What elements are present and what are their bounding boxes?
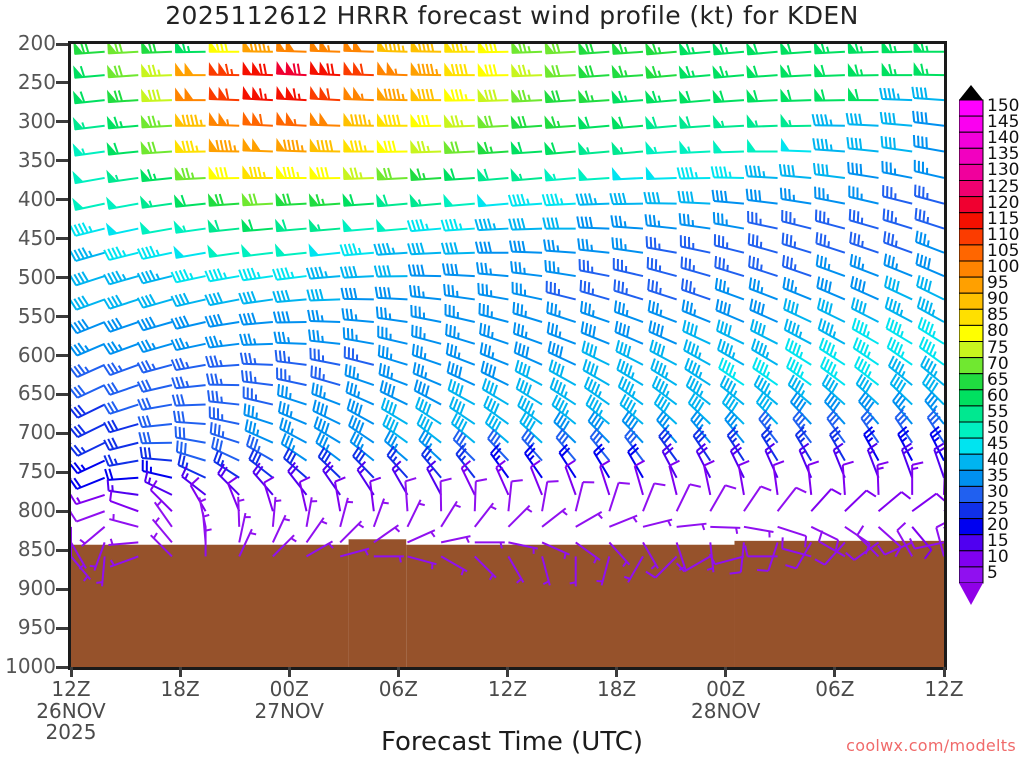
barb-staff bbox=[379, 356, 408, 365]
barb-staff bbox=[580, 270, 609, 276]
wind-barb bbox=[542, 508, 567, 526]
barb-full bbox=[417, 265, 419, 276]
barb-full bbox=[220, 194, 223, 205]
barb-full bbox=[408, 243, 411, 254]
barb-half bbox=[795, 287, 796, 293]
barb-full bbox=[730, 572, 741, 573]
barb-full bbox=[342, 308, 344, 319]
barb-full bbox=[450, 243, 453, 254]
barb-staff bbox=[677, 542, 686, 571]
barb-full bbox=[753, 279, 755, 290]
barb-full bbox=[141, 447, 143, 458]
barb-full bbox=[796, 488, 806, 493]
barb-staff bbox=[647, 203, 677, 204]
barb-full bbox=[716, 299, 718, 310]
barb-half bbox=[268, 46, 269, 52]
barb-pennant bbox=[387, 63, 395, 74]
barb-pennant bbox=[277, 44, 285, 51]
y-tick-label: 950 bbox=[2, 617, 56, 637]
barb-full bbox=[725, 343, 728, 354]
wind-barb bbox=[151, 480, 172, 511]
barb-full bbox=[620, 216, 622, 227]
barb-staff bbox=[479, 314, 508, 322]
barb-full bbox=[590, 217, 592, 228]
barb-full bbox=[416, 243, 419, 254]
barb-full bbox=[283, 403, 285, 414]
wind-barb bbox=[879, 492, 911, 511]
barb-half bbox=[254, 358, 255, 364]
barb-full bbox=[421, 366, 423, 377]
barb-full bbox=[619, 302, 620, 313]
barb-staff bbox=[378, 337, 407, 344]
barb-full bbox=[827, 342, 831, 353]
barb-full bbox=[254, 167, 256, 178]
barb-full bbox=[152, 142, 155, 153]
barb-full bbox=[345, 364, 346, 375]
barb-full bbox=[382, 398, 386, 409]
barb-staff bbox=[441, 536, 470, 542]
x-tick-mark bbox=[506, 667, 509, 677]
colorbar-swatch bbox=[959, 374, 983, 390]
barb-half bbox=[627, 310, 628, 316]
barb-half bbox=[525, 311, 526, 317]
barb-full bbox=[208, 390, 209, 401]
barb-half bbox=[324, 392, 325, 398]
barb-half bbox=[829, 264, 830, 270]
barb-half bbox=[403, 46, 404, 52]
wind-barb bbox=[209, 44, 239, 52]
barb-half bbox=[77, 498, 80, 503]
barb-full bbox=[893, 301, 896, 312]
wind-barb bbox=[478, 283, 508, 299]
wind-barb bbox=[444, 284, 475, 299]
barb-full bbox=[444, 284, 445, 295]
barb-pennant bbox=[747, 116, 755, 127]
wind-barb bbox=[749, 256, 778, 277]
barb-full bbox=[724, 302, 726, 313]
wind-barb bbox=[579, 44, 610, 54]
wind-barb bbox=[309, 245, 340, 256]
barb-full bbox=[593, 326, 595, 337]
barb-full bbox=[818, 298, 821, 309]
wind-barb bbox=[715, 234, 744, 253]
barb-full bbox=[455, 365, 457, 376]
barb-staff bbox=[884, 265, 912, 276]
barb-full bbox=[449, 379, 452, 390]
barb-half bbox=[692, 47, 694, 53]
barb-full bbox=[431, 44, 433, 52]
barb-full bbox=[280, 350, 281, 361]
barb-full bbox=[552, 323, 554, 334]
barb-half bbox=[707, 568, 713, 570]
barb-full bbox=[581, 217, 583, 228]
barb-half bbox=[318, 224, 320, 230]
barb-pennant bbox=[444, 195, 453, 206]
barb-half bbox=[868, 352, 870, 358]
wind-barb bbox=[713, 190, 744, 204]
barb-full bbox=[792, 302, 794, 313]
wind-barb bbox=[612, 143, 643, 154]
barb-full bbox=[785, 319, 788, 330]
barb-full bbox=[704, 461, 714, 466]
barb-full bbox=[153, 44, 156, 52]
barb-pennant bbox=[140, 223, 150, 234]
barb-full bbox=[720, 279, 721, 290]
barb-full bbox=[783, 255, 784, 266]
barb-full bbox=[551, 194, 554, 205]
wind-barb bbox=[817, 277, 845, 300]
barb-half bbox=[901, 310, 903, 316]
wind-barb bbox=[374, 556, 404, 562]
barb-half bbox=[115, 459, 117, 465]
wind-barb bbox=[912, 462, 923, 495]
barb-full bbox=[287, 194, 290, 205]
x-tick-label: 06Z bbox=[775, 679, 895, 701]
wind-barb bbox=[818, 298, 845, 322]
barb-full bbox=[285, 268, 289, 279]
wind-barb bbox=[576, 542, 600, 563]
barb-full bbox=[71, 512, 76, 521]
barb-full bbox=[477, 262, 479, 273]
barb-full bbox=[110, 490, 111, 501]
wind-barb bbox=[442, 242, 475, 253]
barb-full bbox=[884, 231, 885, 242]
colorbar-swatch bbox=[959, 406, 983, 422]
barb-staff bbox=[445, 274, 475, 276]
barb-full bbox=[177, 441, 178, 452]
barb-staff bbox=[715, 556, 744, 564]
wind-barb bbox=[273, 515, 290, 542]
barb-half bbox=[901, 331, 903, 337]
barb-staff bbox=[883, 196, 912, 203]
barb-full bbox=[288, 167, 291, 178]
barb-full bbox=[251, 437, 254, 448]
barb-half bbox=[530, 456, 534, 461]
wind-barb bbox=[310, 140, 340, 152]
wind-barb bbox=[646, 168, 676, 179]
barb-full bbox=[427, 404, 431, 415]
barb-full bbox=[822, 300, 825, 311]
barb-full bbox=[509, 195, 512, 206]
barb-full bbox=[448, 361, 450, 372]
barb-full bbox=[557, 364, 560, 375]
barb-full bbox=[787, 256, 788, 267]
barb-full bbox=[859, 280, 861, 291]
barb-staff bbox=[773, 465, 777, 495]
barb-full bbox=[138, 416, 142, 427]
barb-full bbox=[821, 357, 826, 367]
barb-full bbox=[552, 218, 555, 229]
barb-full bbox=[422, 384, 425, 395]
barb-staff bbox=[479, 294, 509, 299]
barb-pennant bbox=[175, 44, 183, 52]
barb-full bbox=[284, 351, 285, 362]
barb-pennant bbox=[478, 44, 486, 52]
wind-barb bbox=[379, 345, 408, 365]
barb-full bbox=[682, 300, 684, 311]
barb-full bbox=[240, 314, 243, 325]
barb-full bbox=[623, 324, 625, 335]
barb-full bbox=[826, 165, 827, 176]
barb-pennant bbox=[176, 89, 184, 100]
barb-full bbox=[418, 64, 420, 75]
wind-barb bbox=[273, 497, 281, 527]
barb-full bbox=[722, 214, 723, 225]
barb-full bbox=[326, 140, 328, 151]
barb-full bbox=[273, 269, 277, 280]
barb-full bbox=[239, 270, 243, 281]
barb-full bbox=[696, 365, 700, 376]
wind-barb bbox=[104, 363, 138, 375]
barb-full bbox=[483, 378, 487, 389]
wind-barb bbox=[411, 89, 441, 100]
barb-full bbox=[556, 90, 559, 101]
barb-full bbox=[758, 302, 760, 313]
barb-full bbox=[142, 381, 147, 391]
wind-barb bbox=[784, 298, 811, 322]
barb-pennant bbox=[612, 169, 621, 180]
barb-full bbox=[650, 340, 653, 351]
y-tick-label: 800 bbox=[2, 500, 56, 520]
barb-full bbox=[690, 303, 692, 314]
barb-full bbox=[385, 400, 389, 411]
barb-half bbox=[559, 332, 560, 338]
barb-full bbox=[653, 322, 655, 333]
barb-full bbox=[856, 299, 859, 310]
wind-barb bbox=[273, 535, 296, 556]
barb-full bbox=[645, 214, 646, 225]
barb-half bbox=[154, 533, 157, 538]
barb-full bbox=[356, 420, 360, 431]
barb-full bbox=[309, 329, 310, 340]
barb-full bbox=[594, 366, 597, 377]
barb-full bbox=[384, 287, 386, 298]
barb-full bbox=[311, 366, 312, 377]
barb-half bbox=[767, 391, 770, 396]
barb-half bbox=[203, 515, 209, 517]
wind-barb bbox=[750, 299, 777, 322]
barb-half bbox=[150, 201, 152, 207]
barb-full bbox=[218, 292, 223, 302]
barb-full bbox=[494, 64, 497, 75]
barb-full bbox=[788, 300, 790, 311]
wind-barb bbox=[582, 321, 610, 343]
wind-barb bbox=[71, 319, 105, 333]
wind-barb bbox=[548, 322, 576, 344]
barb-full bbox=[297, 140, 299, 151]
barb-full bbox=[446, 243, 449, 254]
wind-barb bbox=[243, 139, 273, 151]
barb-full bbox=[390, 420, 394, 430]
barb-half bbox=[89, 226, 92, 232]
barb-full bbox=[855, 356, 860, 366]
wind-barb bbox=[912, 527, 931, 559]
barb-full bbox=[894, 342, 898, 352]
x-tick-time: 06Z bbox=[815, 677, 854, 701]
barb-staff bbox=[370, 481, 374, 511]
barb-staff bbox=[849, 173, 879, 178]
barb-half bbox=[223, 431, 224, 437]
barb-full bbox=[820, 233, 821, 244]
wind-barb bbox=[514, 322, 542, 343]
barb-full bbox=[248, 313, 251, 324]
barb-full bbox=[515, 262, 516, 273]
barb-half bbox=[234, 145, 235, 151]
barb-full bbox=[576, 194, 579, 205]
barb-half bbox=[119, 345, 122, 350]
barb-staff bbox=[647, 247, 677, 252]
barb-full bbox=[345, 244, 348, 255]
colorbar-swatch bbox=[959, 213, 983, 229]
wind-barb bbox=[749, 233, 778, 253]
barb-full bbox=[788, 321, 791, 332]
barb-full bbox=[388, 141, 391, 152]
barb-full bbox=[311, 268, 314, 279]
wind-barb bbox=[405, 478, 416, 511]
barb-pennant bbox=[141, 197, 150, 208]
barb-full bbox=[925, 301, 928, 312]
barb-pennant bbox=[277, 113, 285, 124]
barb-full bbox=[925, 550, 932, 559]
wind-barb bbox=[377, 168, 408, 180]
wind-barb bbox=[547, 281, 576, 300]
barb-full bbox=[627, 326, 629, 337]
barb-full bbox=[176, 359, 180, 369]
barb-full bbox=[913, 111, 914, 122]
barb-full bbox=[414, 286, 415, 297]
barb-full bbox=[254, 44, 256, 52]
barb-full bbox=[359, 140, 362, 151]
x-tick-day: 27NOV bbox=[229, 701, 349, 723]
wind-barb bbox=[71, 223, 105, 236]
wind-barb bbox=[310, 88, 340, 101]
wind-barb bbox=[191, 478, 206, 512]
wind-barb bbox=[850, 232, 878, 253]
x-tick-label: 12Z bbox=[448, 679, 568, 701]
barb-full bbox=[893, 113, 895, 124]
barb-full bbox=[349, 365, 350, 376]
barb-full bbox=[263, 44, 265, 52]
colorbar-swatch bbox=[959, 100, 983, 116]
barb-full bbox=[316, 310, 318, 321]
barb-full bbox=[282, 433, 286, 444]
barb-full bbox=[762, 304, 764, 315]
wind-barb bbox=[107, 171, 138, 182]
wind-barb bbox=[209, 194, 240, 206]
wind-barb bbox=[883, 209, 912, 229]
barb-half bbox=[425, 372, 426, 378]
barb-full bbox=[210, 336, 214, 347]
barb-full bbox=[441, 479, 452, 482]
barb-full bbox=[716, 278, 717, 289]
barb-full bbox=[387, 417, 391, 427]
barb-full bbox=[321, 404, 324, 415]
colorbar-swatch bbox=[959, 422, 983, 438]
barb-full bbox=[317, 140, 319, 151]
barb-full bbox=[592, 382, 596, 392]
barb-half bbox=[394, 444, 397, 449]
wind-barb bbox=[209, 114, 239, 126]
barb-full bbox=[414, 362, 416, 373]
x-tick-label: 18Z bbox=[557, 679, 677, 701]
wind-barb bbox=[511, 142, 542, 153]
barb-staff bbox=[915, 219, 944, 228]
barb-pennant bbox=[74, 119, 83, 130]
barb-pennant bbox=[545, 170, 554, 181]
barb-half bbox=[632, 372, 634, 378]
wind-barb bbox=[677, 542, 686, 571]
barb-full bbox=[551, 303, 552, 314]
barb-full bbox=[226, 89, 228, 100]
barb-full bbox=[480, 323, 481, 334]
barb-full bbox=[464, 64, 467, 75]
barb-full bbox=[855, 278, 857, 289]
barb-pennant bbox=[219, 114, 227, 125]
barb-full bbox=[863, 324, 866, 335]
y-tick-mark bbox=[56, 315, 68, 318]
wind-barb bbox=[104, 295, 138, 309]
barb-full bbox=[892, 211, 893, 222]
wind-barb bbox=[105, 469, 138, 480]
barb-full bbox=[494, 403, 498, 413]
barb-full bbox=[181, 442, 182, 453]
barb-staff bbox=[849, 148, 879, 151]
barb-full bbox=[253, 452, 258, 462]
barb-full bbox=[916, 231, 918, 242]
barb-full bbox=[797, 364, 801, 374]
wind-barb bbox=[240, 334, 273, 345]
barb-full bbox=[690, 281, 691, 292]
barb-half bbox=[419, 200, 421, 206]
wind-barb bbox=[635, 461, 645, 495]
barb-staff bbox=[446, 335, 475, 344]
wind-barb bbox=[174, 247, 205, 258]
barb-half bbox=[933, 331, 935, 337]
wind-barb bbox=[243, 63, 273, 75]
wind-barb bbox=[239, 291, 273, 303]
barb-staff bbox=[448, 372, 475, 385]
barb-full bbox=[829, 303, 832, 314]
barb-full bbox=[556, 345, 558, 356]
barb-half bbox=[789, 120, 790, 126]
barb-full bbox=[289, 438, 293, 449]
barb-half bbox=[186, 342, 189, 348]
barb-full bbox=[415, 380, 418, 391]
barb-full bbox=[921, 299, 924, 310]
barb-half bbox=[868, 438, 873, 442]
wind-barb bbox=[848, 162, 878, 178]
barb-staff bbox=[783, 266, 811, 276]
barb-half bbox=[665, 372, 667, 378]
barb-full bbox=[493, 366, 496, 377]
barb-full bbox=[476, 479, 487, 481]
barb-full bbox=[325, 167, 328, 178]
barb-full bbox=[385, 308, 386, 319]
barb-staff bbox=[512, 252, 542, 253]
barb-full bbox=[791, 235, 792, 246]
barb-full bbox=[307, 268, 310, 279]
barb-staff bbox=[475, 481, 476, 511]
barb-half bbox=[895, 69, 896, 75]
barb-full bbox=[585, 377, 589, 387]
barb-full bbox=[745, 545, 748, 556]
barb-staff bbox=[335, 482, 340, 512]
wind-barb bbox=[323, 462, 340, 495]
barb-full bbox=[422, 89, 425, 100]
barb-full bbox=[206, 337, 210, 348]
x-tick-label: 18Z bbox=[120, 679, 240, 701]
wind-barb bbox=[781, 115, 811, 126]
